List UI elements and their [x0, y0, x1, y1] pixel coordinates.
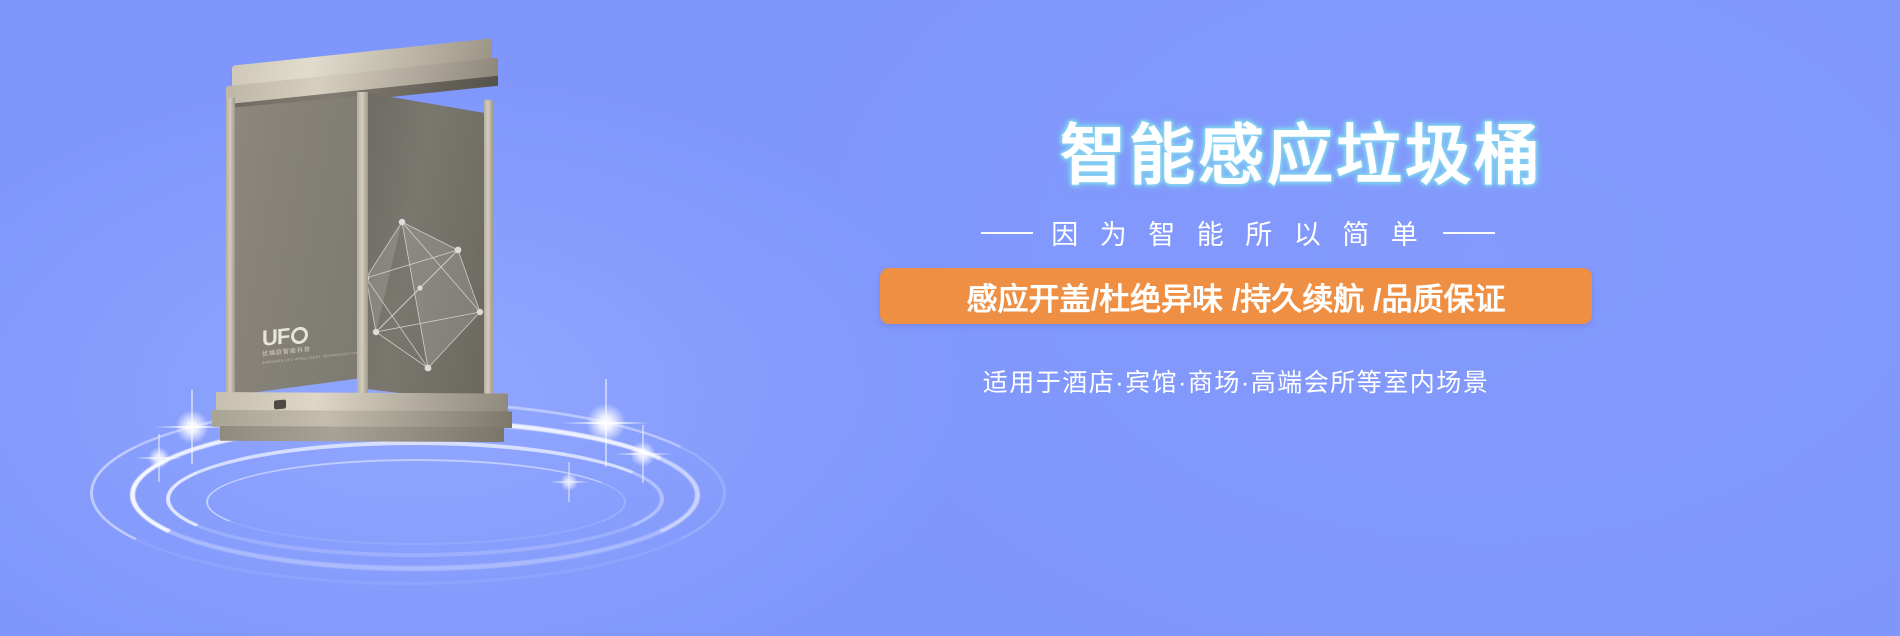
rule-right	[1443, 232, 1495, 234]
subtitle-row: 因 为 智 能 所 以 简 单	[888, 213, 1588, 252]
bin-corner-pillar-right	[484, 100, 493, 405]
rule-left	[981, 232, 1033, 234]
subtitle-text: 因 为 智 能 所 以 简 单	[1051, 213, 1425, 252]
bin-corner-pillar-left	[226, 98, 235, 399]
product-stage: UF 优福欧智能科技 SHENZHEN UFO INTELLIGENT TECH…	[60, 0, 760, 636]
ripple-ring-core	[206, 459, 626, 545]
product-image-trash-can: UF 优福欧智能科技 SHENZHEN UFO INTELLIGENT TECH…	[210, 52, 510, 442]
bin-base-middle	[212, 410, 512, 428]
copy-block: 智能感应垃圾桶 因 为 智 能 所 以 简 单 感应开盖/杜绝异味 /持久续航 …	[880, 0, 1780, 636]
feature-badge: 感应开盖/杜绝异味 /持久续航 /品质保证	[880, 268, 1592, 324]
brand-logo: UF 优福欧智能科技 SHENZHEN UFO INTELLIGENT TECH…	[262, 320, 336, 364]
logo-letters: UF	[262, 325, 289, 350]
bin-base-port-icon	[274, 399, 286, 409]
bin-corner-pillar-center	[357, 92, 368, 404]
logo-ring-icon	[291, 326, 308, 345]
bin-base-lower	[220, 426, 504, 442]
headline-title: 智能感应垃圾桶	[1060, 122, 1543, 188]
promo-banner: UF 优福欧智能科技 SHENZHEN UFO INTELLIGENT TECH…	[0, 0, 1900, 636]
feature-badge-text: 感应开盖/杜绝异味 /持久续航 /品质保证	[966, 274, 1505, 319]
network-graphic	[362, 192, 490, 392]
scene-text: 适用于酒店·宾馆·商场·高端会所等室内场景	[880, 363, 1592, 399]
